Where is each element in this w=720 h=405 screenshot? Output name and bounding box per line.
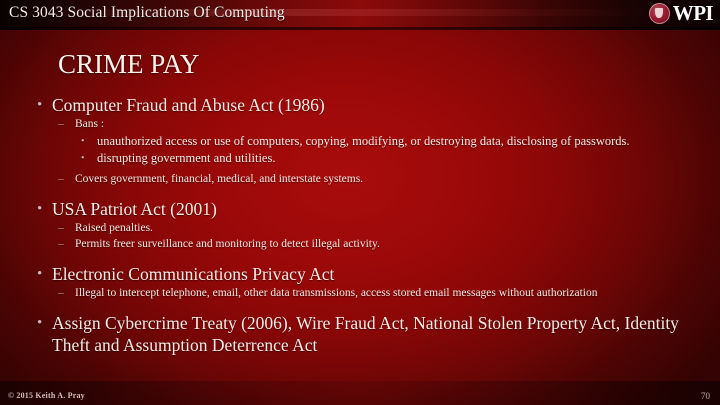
bullet-level2: – Illegal to intercept telephone, email,… — [58, 286, 694, 301]
wpi-wordmark-label: WPI — [673, 3, 713, 24]
spacer — [34, 166, 694, 171]
bullet-level1: • Assign Cybercrime Treaty (2006), Wire … — [34, 312, 694, 356]
spacer — [34, 301, 694, 309]
bullet-text: USA Patriot Act (2001) — [52, 198, 694, 220]
bullet-text: Bans : — [75, 117, 694, 132]
bullet-level2: – Bans : — [58, 117, 694, 132]
dash-marker-icon: – — [58, 117, 75, 132]
bullet-level2: – Raised penalties. — [58, 221, 694, 236]
bullet-level1: • Computer Fraud and Abuse Act (1986) — [34, 94, 694, 116]
dash-marker-icon: – — [58, 286, 75, 301]
bullet-text: Computer Fraud and Abuse Act (1986) — [52, 94, 694, 116]
bullet-text: unauthorized access or use of computers,… — [97, 134, 694, 149]
slide-footer-band — [0, 381, 720, 405]
bullet-marker-icon: • — [34, 94, 52, 116]
dash-marker-icon: – — [58, 237, 75, 252]
dash-marker-icon: – — [58, 172, 75, 187]
bullet-level1: • USA Patriot Act (2001) — [34, 198, 694, 220]
dash-marker-icon: – — [58, 221, 75, 236]
wpi-logo: WPI — [649, 1, 713, 25]
bullet-marker-icon: • — [81, 134, 97, 149]
shield-icon — [655, 8, 663, 18]
bullet-text: Electronic Communications Privacy Act — [52, 263, 694, 285]
bullet-text: Covers government, financial, medical, a… — [75, 172, 694, 187]
header-underline — [0, 28, 720, 30]
bullet-marker-icon: • — [81, 151, 97, 166]
bullet-level3: • disrupting government and utilities. — [81, 151, 694, 166]
spacer — [34, 252, 694, 260]
bullet-level2: – Covers government, financial, medical,… — [58, 172, 694, 187]
copyright-notice: © 2015 Keith A. Pray — [8, 391, 85, 401]
bullet-marker-icon: • — [34, 263, 52, 285]
slide-body: • Computer Fraud and Abuse Act (1986) – … — [34, 91, 694, 357]
bullet-level2: – Permits freer surveillance and monitor… — [58, 237, 694, 252]
bullet-level3: • unauthorized access or use of computer… — [81, 134, 694, 149]
bullet-text: Assign Cybercrime Treaty (2006), Wire Fr… — [52, 312, 694, 356]
bullet-level1: • Electronic Communications Privacy Act — [34, 263, 694, 285]
slide-title: CRIME PAY — [58, 48, 199, 80]
bullet-text: Permits freer surveillance and monitorin… — [75, 237, 694, 252]
bullet-marker-icon: • — [34, 198, 52, 220]
presentation-slide: CS 3043 Social Implications Of Computing… — [0, 0, 720, 405]
spacer — [34, 187, 694, 195]
bullet-text: Raised penalties. — [75, 221, 694, 236]
slide-page-number: 70 — [701, 391, 710, 401]
bullet-marker-icon: • — [34, 312, 52, 334]
wpi-seal-icon — [649, 3, 670, 24]
bullet-text: disrupting government and utilities. — [97, 151, 694, 166]
bullet-text: Illegal to intercept telephone, email, o… — [75, 286, 694, 301]
course-title: CS 3043 Social Implications Of Computing — [9, 3, 285, 23]
